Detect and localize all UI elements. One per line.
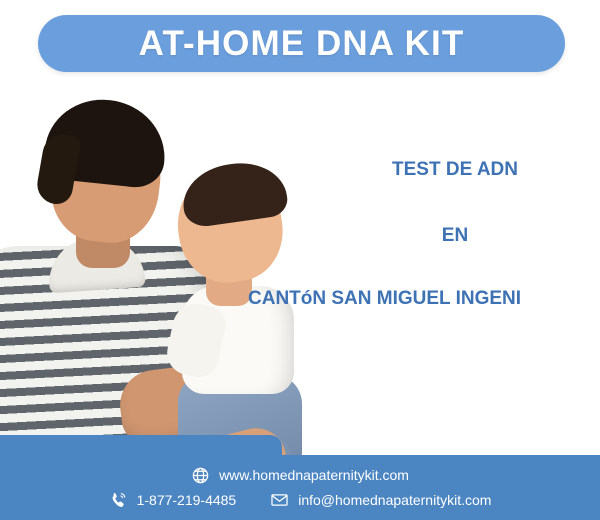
- headline-line-2: EN: [310, 226, 600, 245]
- footer-row-website: www.homednapaternitykit.com: [191, 466, 409, 485]
- globe-icon: [191, 466, 210, 485]
- father-and-baby-figure: [0, 78, 330, 460]
- phone-item[interactable]: 1-877-219-4485: [109, 491, 237, 510]
- email-item[interactable]: info@homednapaternitykit.com: [270, 491, 491, 510]
- phone-icon: [109, 491, 128, 510]
- poster-canvas: AT-HOME DNA KIT TEST DE ADN EN CANTóN SA…: [0, 0, 600, 520]
- footer-row-contact: 1-877-219-4485 info@homednapaternitykit.…: [109, 491, 492, 510]
- website-item[interactable]: www.homednapaternitykit.com: [191, 466, 409, 485]
- hero-photo: [0, 78, 330, 460]
- headline-line-3-location: CANTóN SAN MIGUEL INGENI: [248, 289, 538, 308]
- footer-bar: www.homednapaternitykit.com 1-877-219-44…: [0, 435, 600, 520]
- email-text: info@homednapaternitykit.com: [298, 493, 491, 507]
- header-banner: AT-HOME DNA KIT: [38, 15, 565, 72]
- footer-content: www.homednapaternitykit.com 1-877-219-44…: [0, 455, 600, 520]
- phone-text: 1-877-219-4485: [137, 493, 237, 507]
- page-title: AT-HOME DNA KIT: [139, 26, 465, 61]
- website-text: www.homednapaternitykit.com: [219, 468, 409, 482]
- headline-block: TEST DE ADN EN CANTóN SAN MIGUEL INGENI: [310, 160, 600, 308]
- envelope-icon: [270, 491, 289, 510]
- headline-line-1: TEST DE ADN: [310, 160, 600, 179]
